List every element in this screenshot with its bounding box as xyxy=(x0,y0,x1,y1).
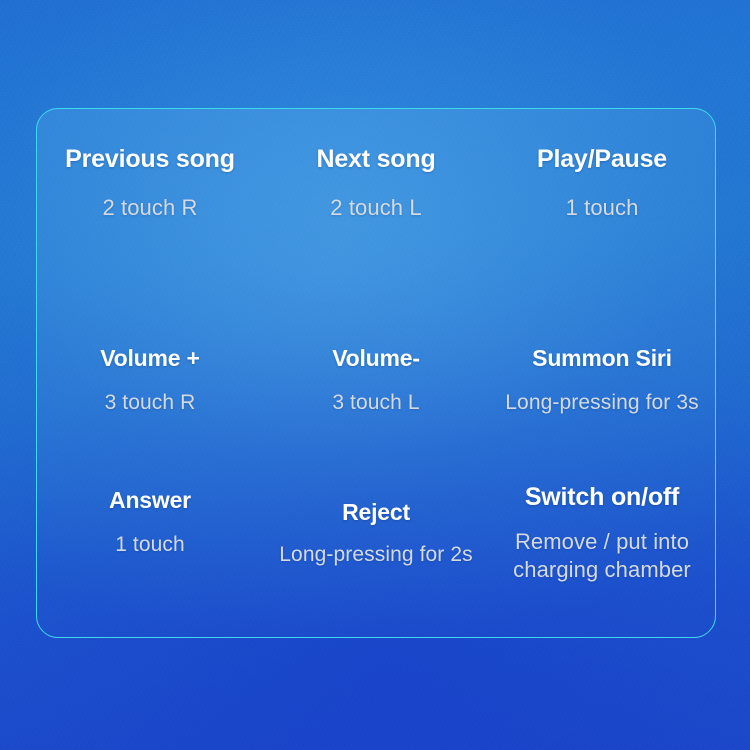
gesture-cell-next-song[interactable]: Next song 2 touch L xyxy=(263,109,489,285)
gesture-subtitle-next-song: 2 touch L xyxy=(330,194,421,222)
gesture-subtitle-answer: 1 touch xyxy=(115,532,185,559)
gesture-title-volume-down: Volume- xyxy=(332,345,420,372)
gesture-title-answer: Answer xyxy=(109,487,191,514)
gesture-title-next-song: Next song xyxy=(316,145,435,174)
gesture-cell-volume-up[interactable]: Volume + 3 touch R xyxy=(37,285,263,461)
gesture-cell-volume-down[interactable]: Volume- 3 touch L xyxy=(263,285,489,461)
gesture-title-summon-siri: Summon Siri xyxy=(532,345,672,372)
gesture-title-previous-song: Previous song xyxy=(65,145,235,174)
gesture-subtitle-previous-song: 2 touch R xyxy=(102,194,197,222)
gesture-subtitle-reject: Long-pressing for 2s xyxy=(279,542,472,569)
gesture-subtitle-volume-up: 3 touch R xyxy=(105,390,196,417)
gesture-subtitle-summon-siri: Long-pressing for 3s xyxy=(505,390,698,417)
gesture-cell-reject[interactable]: Reject Long-pressing for 2s xyxy=(263,461,489,637)
gesture-guide-screen: Previous song 2 touch R Next song 2 touc… xyxy=(0,0,750,750)
gesture-cell-switch-on-off[interactable]: Switch on/off Remove / put into charging… xyxy=(489,461,715,637)
gesture-cell-summon-siri[interactable]: Summon Siri Long-pressing for 3s xyxy=(489,285,715,461)
gesture-title-reject: Reject xyxy=(342,499,410,526)
gesture-title-volume-up: Volume + xyxy=(100,345,200,372)
gesture-subtitle-switch-on-off: Remove / put into charging chamber xyxy=(495,528,709,584)
gesture-cell-play-pause[interactable]: Play/Pause 1 touch xyxy=(489,109,715,285)
gesture-subtitle-volume-down: 3 touch L xyxy=(332,390,419,417)
gesture-control-grid: Previous song 2 touch R Next song 2 touc… xyxy=(37,109,715,637)
gesture-title-play-pause: Play/Pause xyxy=(537,145,667,174)
gesture-cell-answer[interactable]: Answer 1 touch xyxy=(37,461,263,637)
gesture-cell-previous-song[interactable]: Previous song 2 touch R xyxy=(37,109,263,285)
gesture-subtitle-play-pause: 1 touch xyxy=(566,194,639,222)
gesture-control-panel: Previous song 2 touch R Next song 2 touc… xyxy=(36,108,716,638)
gesture-title-switch-on-off: Switch on/off xyxy=(525,483,679,512)
